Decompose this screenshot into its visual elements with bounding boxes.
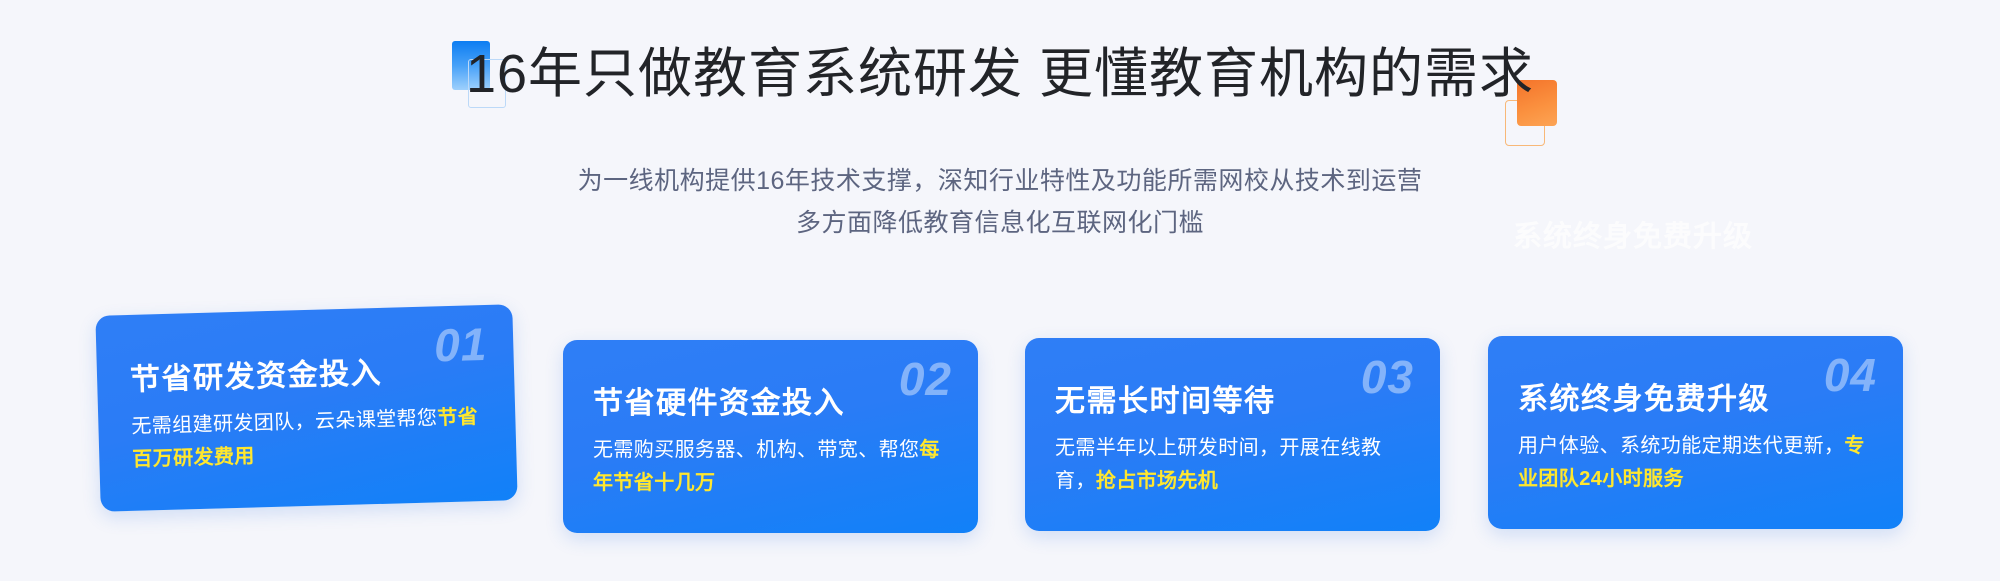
card-body-plain: 无需购买服务器、机构、带宽、帮您: [593, 439, 919, 461]
card-body-plain: 用户体验、系统功能定期迭代更新，: [1518, 435, 1844, 457]
feature-card[interactable]: 04 系统终身免费升级 用户体验、系统功能定期迭代更新，专业团队24小时服务: [1488, 336, 1903, 529]
card-body-highlight: 抢占市场先机: [1096, 470, 1218, 492]
feature-card[interactable]: 03 无需长时间等待 无需半年以上研发时间，开展在线教育，抢占市场先机: [1025, 338, 1440, 531]
card-number: 02: [899, 356, 952, 402]
card-body: 无需组建研发团队，云朵课堂帮您节省百万研发费用: [131, 401, 493, 477]
feature-card[interactable]: 02 节省硬件资金投入 无需购买服务器、机构、带宽、帮您每年节省十几万: [563, 340, 978, 533]
page-title: 16年只做教育系统研发 更懂教育机构的需求: [466, 36, 1534, 112]
card-title: 节省硬件资金投入: [593, 378, 845, 422]
card-body: 用户体验、系统功能定期迭代更新，专业团队24小时服务: [1518, 430, 1878, 496]
feature-card[interactable]: 01 节省研发资金投入 无需组建研发团队，云朵课堂帮您节省百万研发费用: [95, 304, 517, 512]
page-subtitle-line-1: 为一线机构提供16年技术支撑，深知行业特性及功能所需网校从技术到运营: [0, 160, 2000, 202]
card-body: 无需半年以上研发时间，开展在线教育，抢占市场先机: [1055, 432, 1415, 498]
card-title: 系统终身免费升级: [1518, 374, 1770, 418]
page-subtitle-line-2: 多方面降低教育信息化互联网化门槛: [0, 202, 2000, 244]
card-body: 无需购买服务器、机构、带宽、帮您每年节省十几万: [593, 434, 953, 500]
card-number: 03: [1361, 354, 1414, 400]
card-body-plain: 无需组建研发团队，云朵课堂帮您: [131, 407, 437, 438]
card-title: 节省研发资金投入: [129, 348, 382, 399]
card-title: 无需长时间等待: [1055, 376, 1276, 420]
card-number: 04: [1824, 352, 1877, 398]
page-subtitle: 为一线机构提供16年技术支撑，深知行业特性及功能所需网校从技术到运营 多方面降低…: [0, 160, 2000, 244]
card-number: 01: [433, 321, 487, 368]
